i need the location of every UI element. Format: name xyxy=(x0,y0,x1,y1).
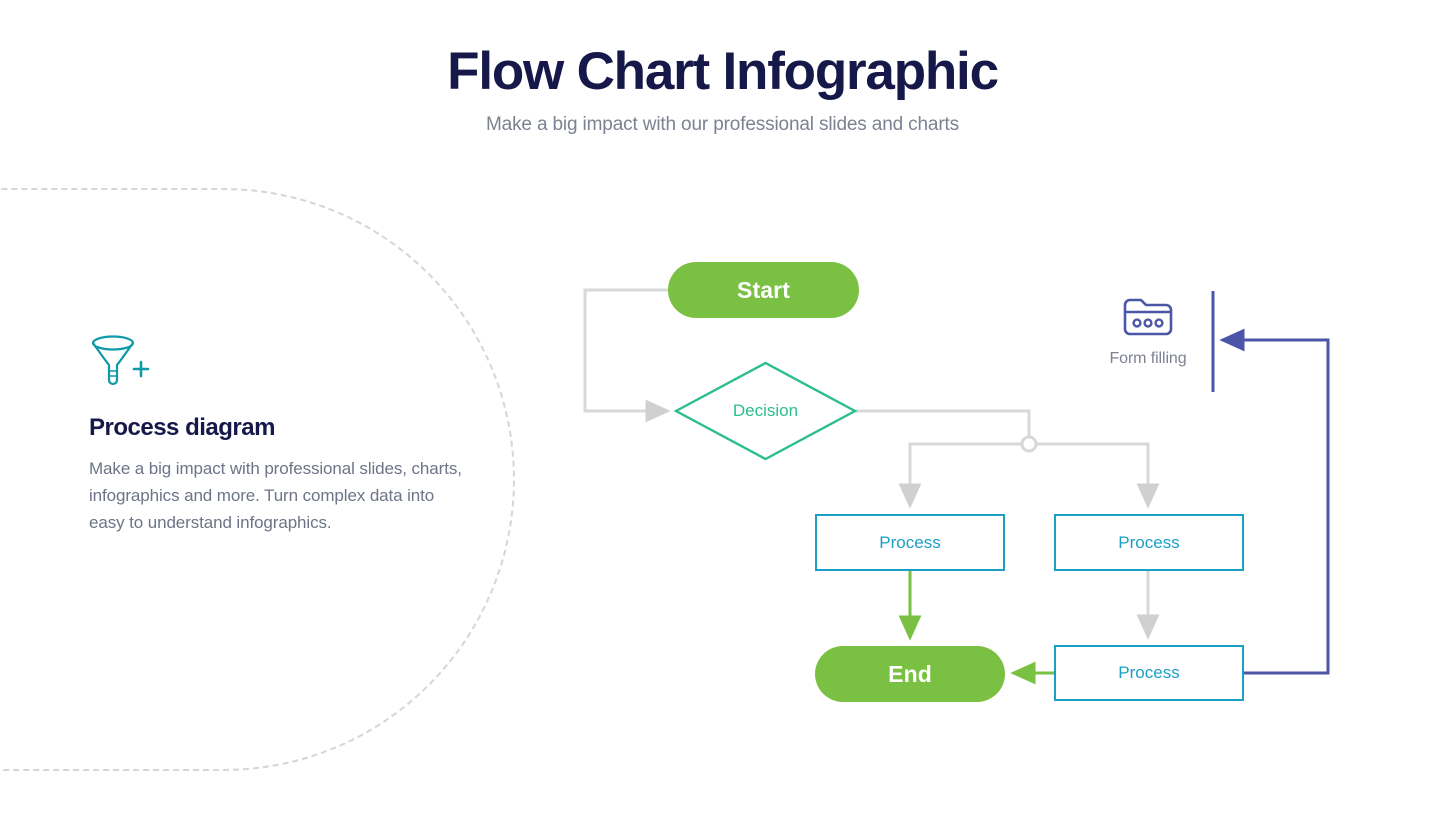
node-process-c[interactable]: Process xyxy=(1054,645,1244,701)
folder-dots-icon xyxy=(1100,292,1196,340)
node-process-a[interactable]: Process xyxy=(815,514,1005,571)
node-decision-label: Decision xyxy=(733,401,798,421)
flow-diagram: Start Decision Process Process Process E… xyxy=(0,0,1445,814)
edge-decision-to-junction xyxy=(855,411,1029,437)
node-decision[interactable]: Decision xyxy=(676,363,855,459)
edge-start-to-decision xyxy=(585,290,668,411)
node-end[interactable]: End xyxy=(815,646,1005,702)
form-filling-label: Form filling xyxy=(1100,350,1196,368)
node-start[interactable]: Start xyxy=(668,262,859,318)
edge-process-c-to-form-filling xyxy=(1222,340,1328,673)
node-end-label: End xyxy=(888,661,932,688)
edge-junction-to-process-b xyxy=(1036,444,1148,506)
form-filling-block[interactable]: Form filling xyxy=(1100,292,1196,368)
node-start-label: Start xyxy=(737,277,790,304)
node-process-b[interactable]: Process xyxy=(1054,514,1244,571)
node-process-c-label: Process xyxy=(1118,663,1179,683)
node-process-b-label: Process xyxy=(1118,533,1179,553)
node-process-a-label: Process xyxy=(879,533,940,553)
edge-junction-to-process-a xyxy=(910,444,1022,506)
junction-node xyxy=(1022,437,1036,451)
slide-canvas: Flow Chart Infographic Make a big impact… xyxy=(0,0,1445,814)
